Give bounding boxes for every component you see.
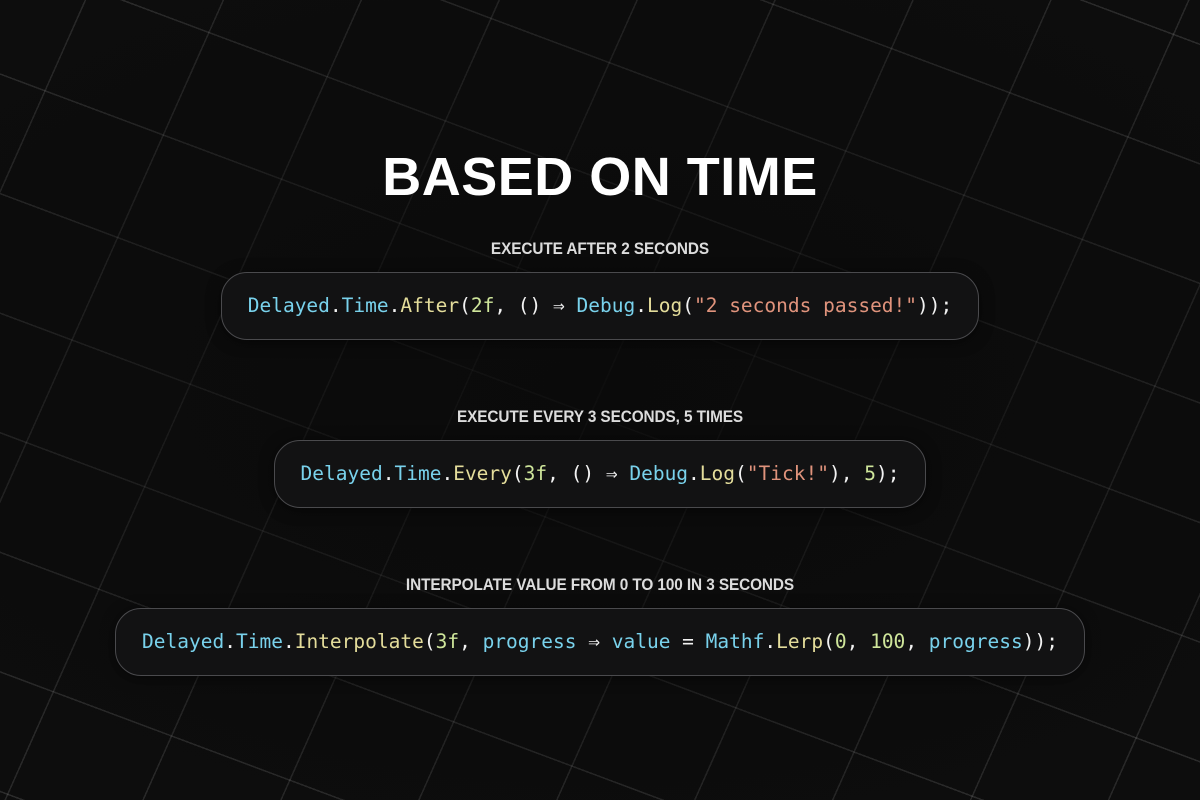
code-card[interactable]: Delayed.Time.After(2f, () ⇒ Debug.Log("2… [221, 272, 980, 340]
code-token-identifier: progress [929, 630, 1023, 653]
code-token-punctuation [600, 630, 612, 653]
section-interpolate: INTERPOLATE VALUE FROM 0 TO 100 IN 3 SEC… [0, 577, 1200, 676]
code-token-punctuation [618, 462, 630, 485]
code-token-punctuation [576, 630, 588, 653]
section-execute-after: EXECUTE AFTER 2 SECONDS Delayed.Time.Aft… [0, 241, 1200, 340]
code-token-identifier: Debug [629, 462, 688, 485]
code-card-wrapper: Delayed.Time.After(2f, () ⇒ Debug.Log("2… [0, 272, 1200, 340]
section-label: EXECUTE EVERY 3 SECONDS, 5 TIMES [42, 409, 1158, 426]
code-token-punctuation: ), [829, 462, 864, 485]
code-token-identifier: Time [236, 630, 283, 653]
code-token-punctuation: , () [494, 294, 553, 317]
code-token-operator: = [670, 630, 705, 653]
code-token-identifier: Time [394, 462, 441, 485]
code-token-punctuation [565, 294, 577, 317]
code-card[interactable]: Delayed.Time.Interpolate(3f, progress ⇒ … [115, 608, 1085, 676]
code-card-wrapper: Delayed.Time.Interpolate(3f, progress ⇒ … [0, 608, 1200, 676]
code-token-arrow: ⇒ [553, 294, 565, 317]
code-line: Delayed.Time.Every(3f, () ⇒ Debug.Log("T… [301, 464, 900, 484]
code-token-punctuation: . [283, 630, 295, 653]
code-token-punctuation: , () [547, 462, 606, 485]
code-card[interactable]: Delayed.Time.Every(3f, () ⇒ Debug.Log("T… [274, 440, 927, 508]
section-label: EXECUTE AFTER 2 SECONDS [42, 241, 1158, 258]
code-token-number: 0 [835, 630, 847, 653]
code-token-identifier: Mathf [706, 630, 765, 653]
code-token-punctuation: , [459, 630, 482, 653]
code-token-punctuation: , [847, 630, 870, 653]
code-token-punctuation: . [330, 294, 342, 317]
code-token-identifier: Debug [577, 294, 636, 317]
code-token-identifier: value [612, 630, 671, 653]
code-token-number: 100 [870, 630, 905, 653]
code-token-number: 3f [436, 630, 459, 653]
code-token-method: Every [453, 462, 512, 485]
code-token-method: Lerp [776, 630, 823, 653]
code-token-punctuation: ( [459, 294, 471, 317]
code-token-identifier: Delayed [142, 630, 224, 653]
code-token-identifier: Time [342, 294, 389, 317]
code-token-punctuation: . [383, 462, 395, 485]
code-token-punctuation: , [905, 630, 928, 653]
code-token-punctuation: ( [682, 294, 694, 317]
code-token-arrow: ⇒ [588, 630, 600, 653]
code-token-string: "2 seconds passed!" [694, 294, 917, 317]
code-token-punctuation: ( [735, 462, 747, 485]
code-token-punctuation: . [441, 462, 453, 485]
code-token-identifier: progress [483, 630, 577, 653]
code-token-method: Log [647, 294, 682, 317]
code-token-string: "Tick!" [747, 462, 829, 485]
code-token-arrow: ⇒ [606, 462, 618, 485]
code-token-punctuation: )); [1023, 630, 1058, 653]
slide-content: BASED ON TIME EXECUTE AFTER 2 SECONDS De… [0, 0, 1200, 800]
code-line: Delayed.Time.After(2f, () ⇒ Debug.Log("2… [248, 296, 953, 316]
section-execute-every: EXECUTE EVERY 3 SECONDS, 5 TIMES Delayed… [0, 409, 1200, 508]
code-token-punctuation: ( [512, 462, 524, 485]
code-token-method: After [400, 294, 459, 317]
code-token-punctuation: ( [424, 630, 436, 653]
code-token-punctuation: . [389, 294, 401, 317]
code-token-number: 2f [471, 294, 494, 317]
code-token-punctuation: ); [876, 462, 899, 485]
code-token-identifier: Delayed [248, 294, 330, 317]
code-token-punctuation: . [635, 294, 647, 317]
section-label: INTERPOLATE VALUE FROM 0 TO 100 IN 3 SEC… [42, 577, 1158, 594]
code-token-number: 3f [524, 462, 547, 485]
code-line: Delayed.Time.Interpolate(3f, progress ⇒ … [142, 632, 1058, 652]
code-token-punctuation: . [764, 630, 776, 653]
code-token-method: Log [700, 462, 735, 485]
code-token-method: Interpolate [295, 630, 424, 653]
page-title: BASED ON TIME [0, 150, 1200, 204]
code-token-punctuation: . [224, 630, 236, 653]
code-card-wrapper: Delayed.Time.Every(3f, () ⇒ Debug.Log("T… [0, 440, 1200, 508]
code-token-identifier: Delayed [301, 462, 383, 485]
code-token-punctuation: . [688, 462, 700, 485]
code-token-punctuation: )); [917, 294, 952, 317]
code-token-number: 5 [864, 462, 876, 485]
code-token-punctuation: ( [823, 630, 835, 653]
